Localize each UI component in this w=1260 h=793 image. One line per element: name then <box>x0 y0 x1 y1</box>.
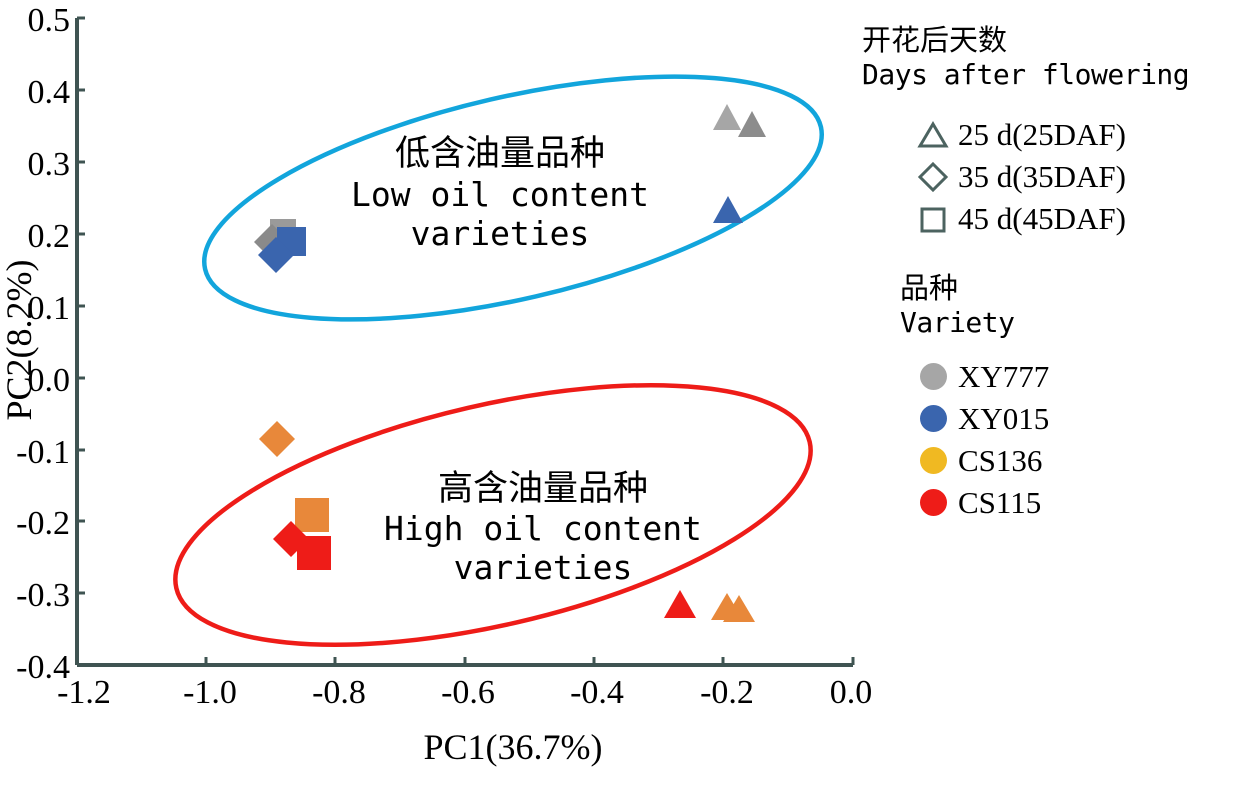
legend-daf-heading-en: Days after flowering <box>862 58 1258 92</box>
legend-group-variety: 品种 Variety XY777 XY015 <box>862 270 1258 524</box>
legend-item-cs136[interactable]: CS136 <box>916 440 1258 482</box>
low-oil-label-en2: varieties <box>411 214 590 253</box>
low-oil-label-cn: 低含油量品种 <box>395 134 605 174</box>
y-tick-label: -0.3 <box>16 577 70 614</box>
y-tick-label: 0.3 <box>28 146 71 183</box>
y-axis-title: PC2(8.2%) <box>0 260 39 421</box>
legend-daf-items: 25 d(25DAF) 35 d(35DAF) <box>916 114 1258 240</box>
legend-item-45daf[interactable]: 45 d(45DAF) <box>916 198 1258 240</box>
x-axis-title: PC1(36.7%) <box>424 727 603 767</box>
legend-item-xy777[interactable]: XY777 <box>916 356 1258 398</box>
high-oil-label-cn: 高含油量品种 <box>438 469 648 509</box>
legend-group-days-after-flowering: 开花后天数 Days after flowering 25 d(25DAF) <box>862 22 1258 240</box>
legend-panel: 开花后天数 Days after flowering 25 d(25DAF) <box>862 22 1258 524</box>
low-oil-cluster-label: 低含油量品种 Low oil content varieties <box>351 134 649 253</box>
legend-item-25daf[interactable]: 25 d(25DAF) <box>916 114 1258 156</box>
legend-item-cs115[interactable]: CS115 <box>916 482 1258 524</box>
y-tick-label: -0.2 <box>16 505 70 542</box>
legend-item-label: 25 d(25DAF) <box>958 118 1126 152</box>
diamond-outline-icon <box>916 160 950 194</box>
data-point-marker-triangle[interactable] <box>713 104 741 130</box>
x-tick-label: -0.2 <box>700 674 754 711</box>
x-tick-label: -0.4 <box>570 674 624 711</box>
data-point-marker-triangle[interactable] <box>664 590 696 618</box>
x-tick-label: -1.2 <box>57 674 111 711</box>
data-point-marker-diamond[interactable] <box>259 421 295 457</box>
data-point-marker-triangle[interactable] <box>713 196 743 223</box>
legend-variety-heading-cn: 品种 <box>900 270 1258 306</box>
legend-variety-heading-en: Variety <box>900 306 1258 340</box>
data-point-marker-triangle[interactable] <box>738 111 766 137</box>
high-oil-label-en2: varieties <box>454 548 633 587</box>
y-tick-label: -0.1 <box>16 434 70 471</box>
y-tick-label: 0.4 <box>28 74 71 111</box>
legend-item-label: XY015 <box>958 402 1049 436</box>
legend-item-label: 35 d(35DAF) <box>958 160 1126 194</box>
x-tick-label: -0.6 <box>441 674 495 711</box>
data-point-marker-square[interactable] <box>297 536 331 570</box>
circle-swatch-icon <box>916 360 950 394</box>
legend-item-label: CS115 <box>958 486 1041 520</box>
high-oil-label-en1: High oil content <box>384 509 702 548</box>
data-point-marker-square[interactable] <box>295 498 329 532</box>
x-tick-label: -1.0 <box>183 674 237 711</box>
circle-swatch-icon <box>916 444 950 478</box>
x-tick-label: -0.8 <box>312 674 366 711</box>
legend-item-35daf[interactable]: 35 d(35DAF) <box>916 156 1258 198</box>
square-outline-icon <box>916 202 950 236</box>
y-tick-label: 0.2 <box>28 218 71 255</box>
circle-swatch-icon <box>916 486 950 520</box>
legend-item-xy015[interactable]: XY015 <box>916 398 1258 440</box>
legend-variety-items: XY777 XY015 CS136 <box>916 356 1258 524</box>
triangle-outline-icon <box>916 118 950 152</box>
x-tick-labels: -1.2 -1.0 -0.8 -0.6 -0.4 -0.2 0.0 <box>57 674 872 711</box>
low-oil-label-en1: Low oil content <box>351 175 649 214</box>
high-oil-cluster-label: 高含油量品种 High oil content varieties <box>384 469 702 587</box>
legend-item-label: 45 d(45DAF) <box>958 202 1126 236</box>
pca-scatter-figure: 0.5 0.4 0.3 0.2 0.1 0.0 -0.1 -0.2 -0.3 -… <box>0 0 1260 793</box>
x-tick-label: 0.0 <box>830 674 873 711</box>
legend-item-label: CS136 <box>958 444 1042 478</box>
y-tick-label: 0.5 <box>28 2 71 39</box>
legend-daf-heading-cn: 开花后天数 <box>862 22 1258 58</box>
circle-swatch-icon <box>916 402 950 436</box>
legend-item-label: XY777 <box>958 360 1049 394</box>
